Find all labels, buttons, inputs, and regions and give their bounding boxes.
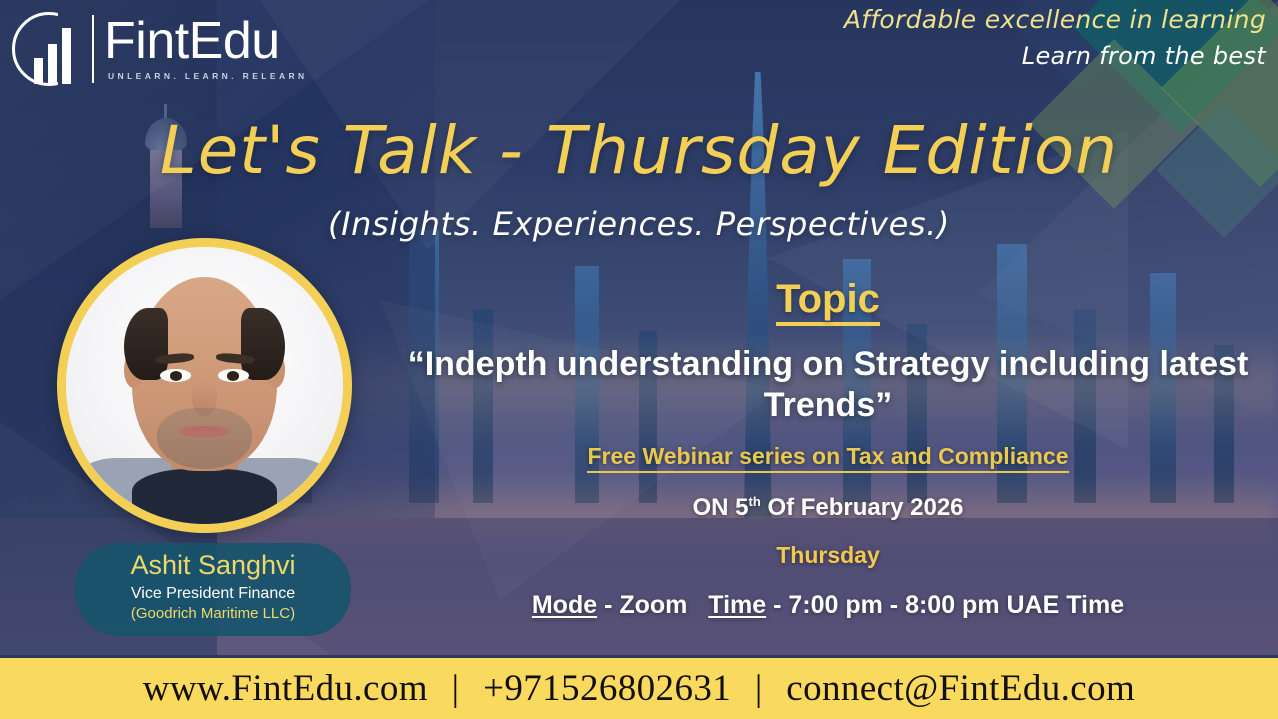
webinar-series-label: Free Webinar series on Tax and Complianc… bbox=[587, 443, 1068, 473]
corner-taglines: Affordable excellence in learning Learn … bbox=[844, 4, 1266, 72]
speaker-name: Ashit Sanghvi bbox=[89, 550, 337, 582]
event-details: Topic “Indepth understanding on Strategy… bbox=[400, 278, 1256, 620]
speaker-portrait bbox=[66, 247, 343, 524]
speaker-role: Vice President Finance bbox=[89, 583, 337, 605]
event-date: ON 5th Of February 2026 bbox=[400, 494, 1256, 522]
tagline-secondary: Learn from the best bbox=[844, 41, 1266, 72]
speaker-info-card: Ashit Sanghvi Vice President Finance (Go… bbox=[75, 543, 351, 636]
event-date-ordinal: th bbox=[748, 494, 760, 509]
page-title: Let's Talk - Thursday Edition bbox=[0, 112, 1278, 189]
footer-separator: | bbox=[438, 668, 474, 709]
mode-value: - Zoom bbox=[604, 591, 687, 619]
logo-divider bbox=[92, 15, 94, 83]
event-mode-time: Mode - Zoom Time - 7:00 pm - 8:00 pm UAE… bbox=[400, 591, 1256, 620]
bar-chart-circle-icon bbox=[10, 8, 90, 90]
footer-separator: | bbox=[741, 668, 777, 709]
topic-label: Topic bbox=[776, 278, 880, 326]
brand-tagline: UNLEARN. LEARN. RELEARN bbox=[104, 71, 308, 81]
event-date-suffix: Of February 2026 bbox=[767, 494, 963, 521]
brand-name: FintEdu bbox=[104, 17, 308, 66]
brand-logo[interactable]: FintEdu UNLEARN. LEARN. RELEARN bbox=[10, 8, 308, 90]
footer-email[interactable]: connect@FintEdu.com bbox=[786, 668, 1135, 709]
event-day: Thursday bbox=[400, 542, 1256, 569]
speaker-organization: (Goodrich Maritime LLC) bbox=[89, 604, 337, 624]
topic-title: “Indepth understanding on Strategy inclu… bbox=[400, 344, 1256, 427]
footer-phone[interactable]: +971526802631 bbox=[483, 668, 731, 709]
page-subtitle: (Insights. Experiences. Perspectives.) bbox=[0, 205, 1278, 243]
tagline-primary: Affordable excellence in learning bbox=[844, 4, 1266, 37]
contact-footer: www.FintEdu.com | +971526802631 | connec… bbox=[0, 655, 1278, 719]
mode-label: Mode bbox=[532, 591, 597, 619]
time-value: - 7:00 pm - 8:00 pm UAE Time bbox=[773, 591, 1124, 619]
event-date-prefix: ON 5 bbox=[692, 494, 748, 521]
speaker-avatar bbox=[57, 238, 352, 533]
webinar-promo-banner: FintEdu UNLEARN. LEARN. RELEARN Affordab… bbox=[0, 0, 1278, 719]
footer-contact-line: www.FintEdu.com | +971526802631 | connec… bbox=[143, 667, 1135, 710]
footer-website[interactable]: www.FintEdu.com bbox=[143, 668, 428, 709]
time-label: Time bbox=[708, 591, 766, 619]
